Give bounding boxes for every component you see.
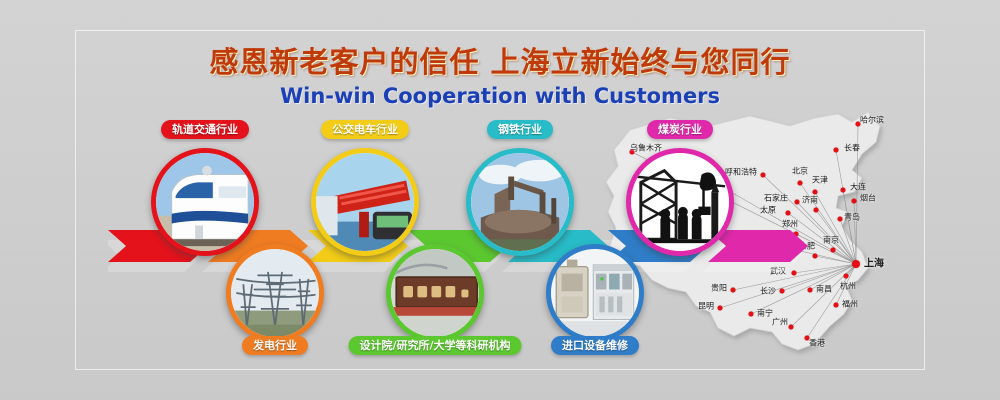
- map-city-label: 杭州: [840, 281, 856, 292]
- university-sign-icon: [391, 249, 479, 337]
- map-city-label: 石家庄: [764, 193, 788, 204]
- map-city-label: 呼和浩特: [725, 167, 757, 178]
- map-city-dot: [813, 254, 818, 259]
- map-city-dot: [838, 217, 843, 222]
- power-pylon-icon: [231, 249, 319, 337]
- map-city-dot: [780, 289, 785, 294]
- map-city-label: 贵阳: [711, 283, 727, 294]
- industry-photo-research[interactable]: [386, 244, 484, 342]
- page-title-en: Win-win Cooperation with Customers: [0, 83, 1000, 109]
- map-city-label: 烟台: [860, 193, 876, 204]
- train-icon: [156, 153, 254, 251]
- map-city-dot: [834, 303, 839, 308]
- map-city-label: 长春: [844, 143, 860, 154]
- industry-photo-coal[interactable]: [626, 148, 734, 256]
- map-city-label: 大连: [850, 182, 866, 193]
- steel-furnace-icon: [471, 153, 569, 251]
- industry-label-coal[interactable]: 煤炭行业: [647, 120, 713, 139]
- map-city-label: 南宁: [757, 308, 773, 319]
- map-city-dot: [852, 260, 860, 268]
- map-city-label: 长沙: [760, 286, 776, 297]
- map-city-label: 太原: [760, 205, 776, 216]
- map-city-dot: [786, 211, 791, 216]
- map-city-label: 香港: [809, 338, 825, 349]
- map-city-dot: [731, 288, 736, 293]
- industry-photo-rail[interactable]: [151, 148, 259, 256]
- industry-photo-service[interactable]: [546, 244, 644, 342]
- map-city-label: 南京: [823, 235, 839, 246]
- industry-label-power[interactable]: 发电行业: [242, 336, 308, 355]
- industry-label-steel[interactable]: 钢铁行业: [487, 120, 553, 139]
- map-city-dot: [795, 200, 800, 205]
- map-city-dot: [718, 306, 723, 311]
- map-city-dot: [749, 312, 754, 317]
- map-city-label: 广州: [772, 317, 788, 328]
- map-city-dot: [844, 274, 849, 279]
- map-city-label: 福州: [842, 299, 858, 310]
- map-city-label: 青岛: [844, 212, 860, 223]
- banner-title-block: 感恩新老客户的信任 上海立新始终与您同行 Win-win Cooperation…: [0, 44, 1000, 109]
- industry-photo-bus[interactable]: [311, 148, 419, 256]
- map-city-dot: [834, 148, 839, 153]
- switchgear-icon: [551, 249, 639, 337]
- map-city-label: 济南: [802, 195, 818, 206]
- promo-banner: 感恩新老客户的信任 上海立新始终与您同行 Win-win Cooperation…: [0, 0, 1000, 400]
- industry-label-bus[interactable]: 公交电车行业: [321, 120, 409, 139]
- industry-photo-steel[interactable]: [466, 148, 574, 256]
- map-city-label: 上海: [864, 255, 884, 270]
- map-city-label: 北京: [792, 166, 808, 177]
- map-city-dot: [761, 173, 766, 178]
- coal-mine-icon: [631, 153, 729, 251]
- map-city-dot: [852, 199, 857, 204]
- map-city-dot: [789, 325, 794, 330]
- industry-label-rail[interactable]: 轨道交通行业: [161, 120, 249, 139]
- map-city-label: 哈尔滨: [860, 115, 884, 126]
- map-city-dot: [798, 181, 803, 186]
- page-title-cn: 感恩新老客户的信任 上海立新始终与您同行: [0, 44, 1000, 80]
- map-city-label: 南昌: [816, 284, 832, 295]
- industry-label-service[interactable]: 进口设备维修: [551, 336, 639, 355]
- map-city-label: 昆明: [698, 301, 714, 312]
- industry-label-research[interactable]: 设计院/研究所/大学等科研机构: [348, 336, 521, 355]
- map-city-label: 天津: [812, 175, 828, 186]
- bus-pavilion-icon: [316, 153, 414, 251]
- map-city-dot: [831, 248, 836, 253]
- map-city-dot: [808, 288, 813, 293]
- map-city-dot: [841, 188, 846, 193]
- industry-photo-power[interactable]: [226, 244, 324, 342]
- map-city-dot: [814, 208, 819, 213]
